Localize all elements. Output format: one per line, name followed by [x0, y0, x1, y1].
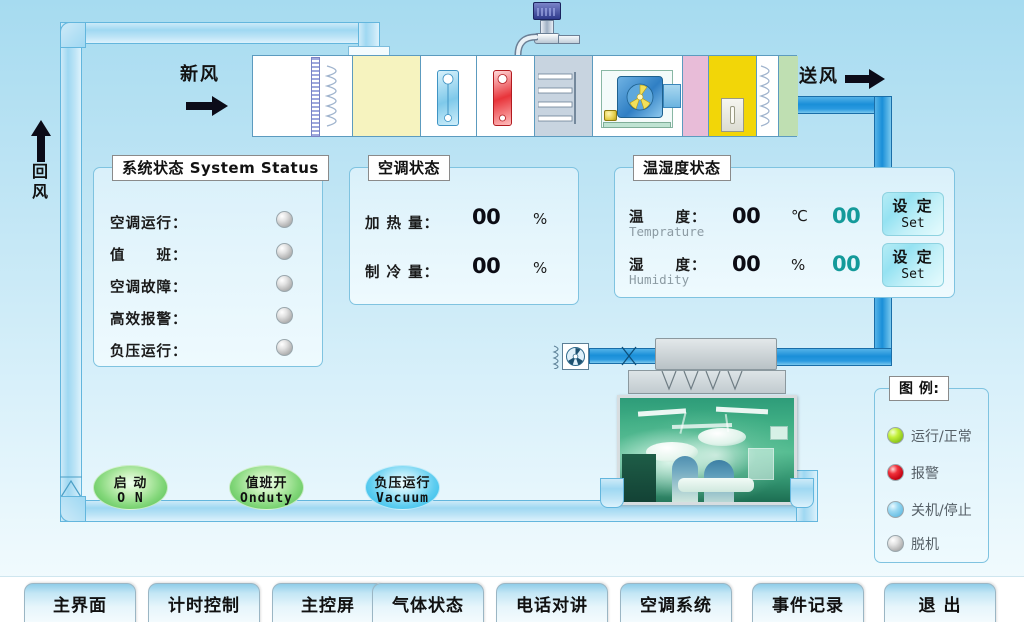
legend-label-alarm: 报警 — [911, 463, 939, 483]
legend-panel: 图 例: 运行/正常 报警 关机/停止 脱机 — [874, 388, 989, 563]
ahu-heating-sensor-marks — [493, 70, 512, 126]
nav-button-main-screen[interactable]: 主界面 — [24, 583, 136, 622]
return-air-label-char1: 回 — [31, 163, 49, 181]
ahu-fan-motor-icon — [604, 110, 617, 121]
diffuser-vanes-icon — [660, 371, 756, 393]
onduty-button-label-en: Onduty — [230, 491, 303, 506]
operating-room-image-frame — [617, 395, 797, 505]
nav-button-timer-control[interactable]: 计时控制 — [148, 583, 260, 622]
return-air-label-char2: 风 — [31, 183, 49, 201]
system-status-lamp-ac-fault — [276, 275, 293, 292]
ahu-coil-icon — [325, 62, 349, 132]
hvac-scada-screen: 新风 送风 回 风 系统状态 System Status 空调运行： 值 班： … — [0, 0, 1024, 622]
return-air-duct-vertical — [60, 22, 82, 522]
system-status-lamp-on-duty — [276, 243, 293, 260]
onduty-button-label-zh: 值班开 — [230, 472, 303, 491]
ac-status-cool-unit: % — [533, 259, 547, 277]
supply-plenum-box — [655, 338, 777, 370]
legend-title: 图 例: — [889, 376, 949, 401]
air-handling-unit — [252, 55, 797, 137]
ahu-access-door-handle — [730, 106, 735, 124]
legend-lamp-alarm — [887, 464, 904, 481]
duct-elbow-bottomleft — [60, 496, 86, 522]
humidity-set-button-label-en: Set — [883, 267, 943, 282]
ahu-cooling-sensor-marks — [437, 70, 459, 126]
nav-button-ac-system[interactable]: 空调系统 — [620, 583, 732, 622]
temperature-setpoint-value: 00 — [832, 204, 860, 228]
nav-button-exit[interactable]: 退 出 — [884, 583, 996, 622]
return-duct-damper-icon — [620, 346, 638, 366]
humidity-value: 00 — [732, 252, 760, 276]
ac-status-panel: 空调状态 加 热 量： 00 % 制 冷 量： 00 % — [349, 167, 579, 305]
ahu-hepa-coil-icon — [759, 62, 779, 132]
vacuum-button-label-en: Vacuum — [366, 491, 439, 506]
or-return-duct-right — [790, 478, 814, 508]
ahu-fan-base — [603, 122, 671, 128]
fresh-air-label: 新风 — [180, 60, 220, 86]
start-on-button[interactable]: 启 动 O N — [93, 465, 168, 510]
ac-status-heat-unit: % — [533, 210, 547, 228]
motorized-valve-actuator-vents — [537, 8, 557, 17]
valve-pipe-elbow — [514, 33, 538, 55]
ahu-prefilter — [311, 57, 320, 137]
return-air-arrow-icon — [30, 120, 52, 162]
legend-label-offline: 脱机 — [911, 534, 939, 554]
supply-air-label: 送风 — [799, 62, 839, 88]
ac-status-row-label-1: 制 冷 量： — [365, 261, 439, 282]
temp-humidity-panel: 温湿度状态 温 度： Temprature 00 ℃ 00 设 定 Set 湿 … — [614, 167, 955, 298]
nav-button-event-log[interactable]: 事件记录 — [752, 583, 864, 622]
valve-pipe-horizontal — [558, 35, 580, 44]
humidity-unit: % — [791, 256, 805, 274]
system-status-title: 系统状态 System Status — [112, 155, 329, 181]
return-fan-coil-icon — [552, 344, 563, 369]
humidity-set-button-label-zh: 设 定 — [883, 246, 943, 267]
nav-button-main-control-panel[interactable]: 主控屏 — [272, 583, 384, 622]
duct-elbow-topleft — [60, 22, 86, 48]
temperature-unit: ℃ — [791, 207, 808, 225]
ac-status-cool-value: 00 — [472, 254, 500, 278]
ac-status-row-label-0: 加 热 量： — [365, 212, 439, 233]
or-return-duct-left — [600, 478, 624, 508]
humidity-set-button[interactable]: 设 定 Set — [882, 243, 944, 287]
ahu-section-outlet-green — [779, 56, 798, 136]
fresh-air-arrow-icon — [186, 94, 230, 118]
humidity-sublabel: Humidity — [629, 272, 689, 287]
legend-lamp-running — [887, 427, 904, 444]
legend-lamp-stopped — [887, 501, 904, 518]
supply-air-arrow-icon — [845, 68, 887, 90]
temperature-value: 00 — [732, 204, 760, 228]
start-on-button-label-zh: 启 动 — [94, 472, 167, 491]
vacuum-button-label-zh: 负压运行 — [366, 472, 439, 491]
legend-label-running: 运行/正常 — [911, 426, 972, 446]
return-fan-icon — [565, 346, 586, 367]
fresh-air-duct-top — [60, 22, 380, 44]
system-status-lamp-ac-running — [276, 211, 293, 228]
temperature-sublabel: Temprature — [629, 224, 704, 239]
ac-status-title: 空调状态 — [368, 155, 450, 181]
system-status-row-label-3: 高效报警： — [110, 308, 188, 329]
nav-button-gas-status[interactable]: 气体状态 — [372, 583, 484, 622]
ahu-fan-blades-icon — [625, 82, 655, 112]
temperature-set-button-label-en: Set — [883, 216, 943, 231]
ahu-fan-outlet — [663, 84, 681, 108]
humidity-setpoint-value: 00 — [832, 252, 860, 276]
bottom-navigation-bar: 主界面 计时控制 主控屏 气体状态 电话对讲 空调系统 事件记录 退 出 — [0, 576, 1024, 622]
system-status-panel: 系统状态 System Status 空调运行： 值 班： 空调故障： 高效报警… — [93, 167, 323, 367]
system-status-row-label-2: 空调故障： — [110, 276, 188, 297]
onduty-button[interactable]: 值班开 Onduty — [229, 465, 304, 510]
ac-status-heat-value: 00 — [472, 205, 500, 229]
motorized-valve-stem — [540, 20, 554, 34]
system-status-lamp-hepa-alarm — [276, 307, 293, 324]
system-status-row-label-0: 空调运行： — [110, 212, 188, 233]
ahu-section-pink — [683, 56, 709, 136]
nav-button-intercom[interactable]: 电话对讲 — [496, 583, 608, 622]
system-status-lamp-negative-pressure — [276, 339, 293, 356]
system-status-row-label-4: 负压运行： — [110, 340, 188, 361]
operating-room-photo — [620, 398, 794, 502]
ahu-humidifier-pipes-icon — [538, 72, 590, 126]
temperature-set-button[interactable]: 设 定 Set — [882, 192, 944, 236]
legend-lamp-offline — [887, 535, 904, 552]
start-on-button-label-en: O N — [94, 491, 167, 506]
temp-humidity-title: 温湿度状态 — [633, 155, 731, 181]
system-status-row-label-1: 值 班： — [110, 244, 188, 265]
ahu-section-filter-yellow — [353, 56, 421, 136]
legend-label-stopped: 关机/停止 — [911, 500, 972, 520]
temperature-set-button-label-zh: 设 定 — [883, 195, 943, 216]
vacuum-button[interactable]: 负压运行 Vacuum — [365, 465, 440, 510]
